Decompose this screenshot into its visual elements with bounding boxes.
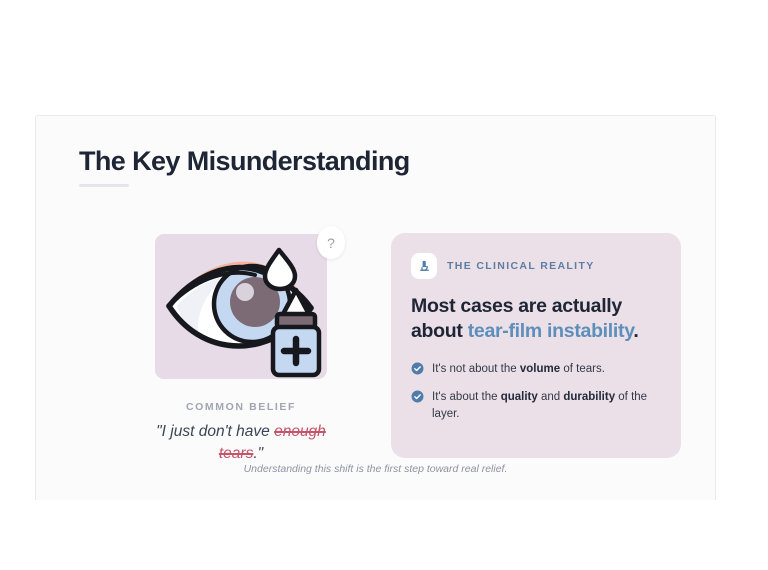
footer-note: Understanding this shift is the first st… (36, 463, 715, 475)
plain-text: It's about the (432, 391, 501, 403)
emphasised-term: quality (501, 391, 538, 403)
plain-text: It's not about the (432, 363, 520, 375)
clinical-reality-card: THE CLINICAL REALITY Most cases are actu… (391, 233, 681, 458)
microscope-icon (411, 253, 437, 279)
eye-with-eyedrop-bottle-illustration (155, 234, 327, 379)
clinical-reality-header: THE CLINICAL REALITY (411, 253, 661, 279)
check-circle-icon (411, 362, 424, 380)
list-item-label: It's not about the volume of tears. (432, 361, 605, 378)
common-belief-label: COMMON BELIEF (136, 401, 346, 413)
heading-segment-3: . (633, 320, 638, 342)
plain-text: of tears. (560, 363, 605, 375)
common-belief-quote: "I just don't have enough tears." (136, 421, 346, 466)
check-circle-icon (411, 390, 424, 408)
common-belief-column: ? COMMON BELIEF "I just don't have enoug… (136, 234, 346, 466)
list-item: It's about the quality and durability of… (411, 389, 661, 422)
emphasised-term: volume (520, 363, 560, 375)
heading-accent-phrase: tear-film instability (468, 320, 634, 342)
quote-text-open: "I just don't have (156, 423, 274, 440)
list-item: It's not about the volume of tears. (411, 361, 661, 380)
clinical-reality-heading: Most cases are actually about tear-film … (411, 294, 661, 344)
quote-text-close: ." (253, 445, 263, 462)
clinical-reality-eyebrow: THE CLINICAL REALITY (447, 260, 595, 272)
emphasised-term: durability (563, 391, 615, 403)
belief-illustration-wrap: ? (155, 234, 327, 379)
page-title: The Key Misunderstanding (79, 146, 410, 177)
plain-text: and (538, 391, 564, 403)
title-underline-rule (79, 184, 129, 187)
list-item-label: It's about the quality and durability of… (432, 389, 661, 422)
question-mark-icon[interactable]: ? (317, 226, 345, 259)
slide-card: The Key Misunderstanding (35, 115, 716, 500)
clinical-reality-points-list: It's not about the volume of tears.It's … (411, 361, 661, 422)
